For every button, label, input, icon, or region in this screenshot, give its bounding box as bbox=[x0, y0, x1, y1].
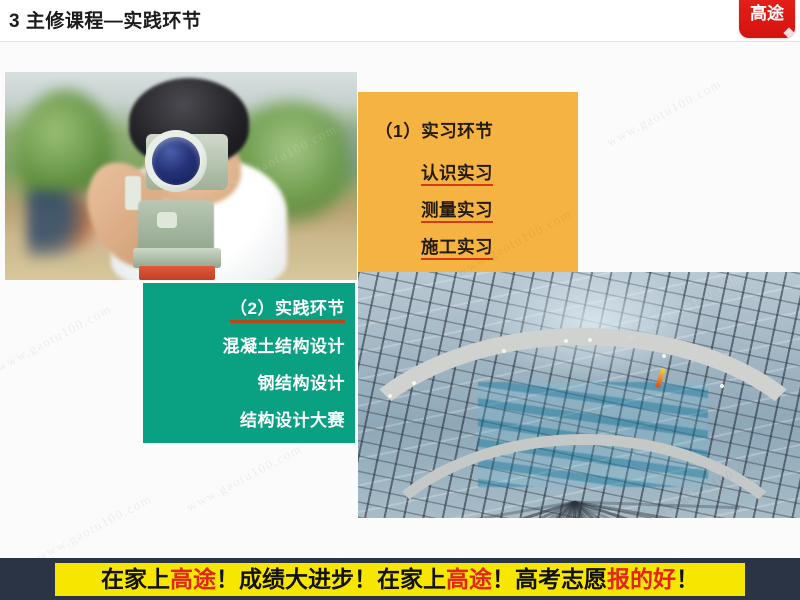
watermark: www.gaotu100.com bbox=[34, 491, 155, 565]
gaotu-logo: 高途 bbox=[739, 0, 795, 38]
promo-slogan-segment-6: ！ bbox=[676, 566, 699, 592]
practice-item-3: 结构设计大赛 bbox=[240, 406, 345, 431]
photo-tripod-head bbox=[139, 266, 215, 280]
practice-item-1: 混凝土结构设计 bbox=[223, 332, 346, 357]
internship-item-1-text: 认识实习 bbox=[421, 163, 493, 186]
photo-theodolite-lens bbox=[152, 137, 200, 185]
internship-item-3: 施工实习 bbox=[421, 234, 493, 259]
internship-item-2-text: 测量实习 bbox=[421, 200, 493, 223]
practice-item-0: （2）实践环节 bbox=[230, 294, 345, 319]
watermark: www.gaotu100.com bbox=[0, 301, 115, 375]
photo-theodolite-base bbox=[133, 248, 221, 268]
slide-header: 3 主修课程—实践环节 高途 bbox=[0, 0, 800, 42]
surveying-student-photo bbox=[5, 72, 357, 280]
glass-atrium-structure-photo bbox=[358, 272, 800, 518]
photo-theodolite-knob bbox=[157, 212, 177, 228]
promo-slogan-segment-1: 高途 bbox=[170, 566, 216, 592]
practice-item-0-text: （2）实践环节 bbox=[230, 299, 345, 323]
practice-box: （2）实践环节 混凝土结构设计 钢结构设计 结构设计大赛 bbox=[143, 283, 355, 443]
practice-item-1-text: 混凝土结构设计 bbox=[223, 337, 346, 356]
internship-item-0: （1）实习环节 bbox=[375, 118, 493, 143]
practice-item-2: 钢结构设计 bbox=[258, 369, 346, 394]
gaotu-logo-text: 高途 bbox=[739, 5, 795, 22]
promo-slogan-segment-4: ！高考志愿 bbox=[492, 566, 607, 592]
internship-item-3-text: 施工实习 bbox=[421, 237, 493, 260]
promo-slogan-segment-3: 高途 bbox=[446, 566, 492, 592]
slide-canvas: （1）实习环节 认识实习 测量实习 施工实习 （2）实践环节 混凝土结构设计 钢… bbox=[0, 0, 800, 600]
watermark: www.gaotu100.com bbox=[604, 76, 725, 150]
promo-slogan-segment-5: 报的好 bbox=[607, 566, 676, 592]
internship-box: （1）实习环节 认识实习 测量实习 施工实习 bbox=[358, 92, 578, 272]
promo-slogan-segment-0: 在家上 bbox=[101, 566, 170, 592]
promo-banner: 在家上高途！成绩大进步！在家上高途！高考志愿报的好！ bbox=[55, 563, 745, 596]
internship-item-1: 认识实习 bbox=[421, 160, 493, 185]
internship-item-2: 测量实习 bbox=[421, 197, 493, 222]
bottom-banner-bar: 在家上高途！成绩大进步！在家上高途！高考志愿报的好！ bbox=[0, 558, 800, 600]
promo-slogan: 在家上高途！成绩大进步！在家上高途！高考志愿报的好！ bbox=[101, 568, 699, 591]
watermark: www.gaotu100.com bbox=[184, 441, 305, 515]
promo-slogan-segment-2: ！成绩大进步！在家上 bbox=[216, 566, 446, 592]
practice-item-3-text: 结构设计大赛 bbox=[240, 411, 345, 430]
page-title: 3 主修课程—实践环节 bbox=[9, 6, 201, 33]
gaotu-logo-corner bbox=[783, 27, 794, 38]
internship-item-0-text: （1）实习环节 bbox=[375, 121, 493, 141]
practice-item-2-text: 钢结构设计 bbox=[258, 374, 346, 393]
